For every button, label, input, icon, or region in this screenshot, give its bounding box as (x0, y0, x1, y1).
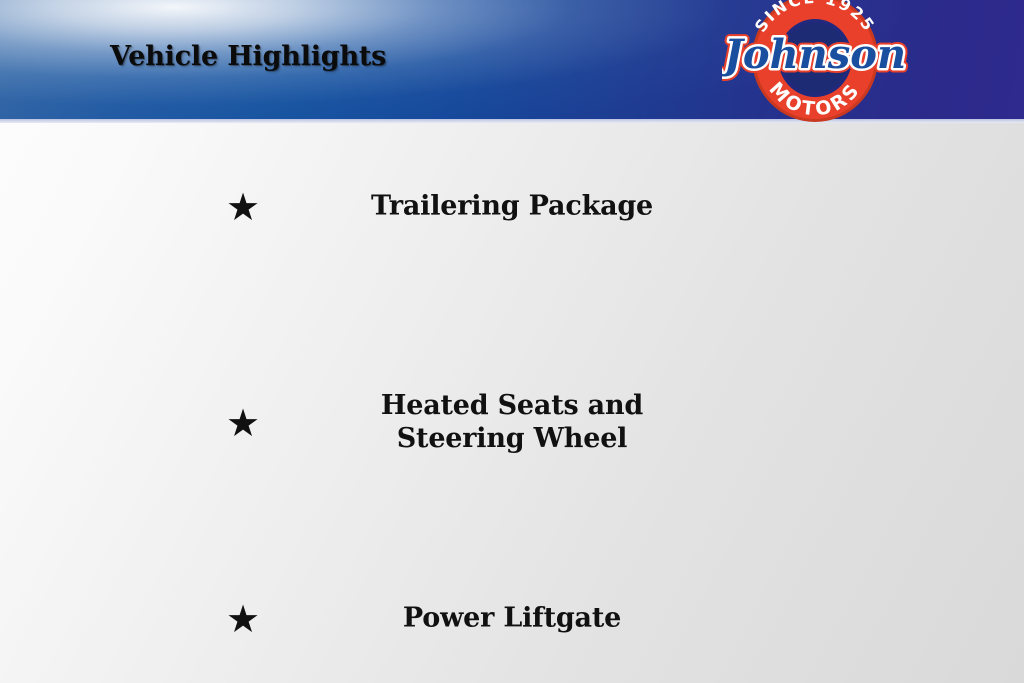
logo-wordmark-fill: Johnson (722, 31, 906, 78)
page-title: Vehicle Highlights (110, 41, 386, 72)
logo-wordmark: Johnson Johnson Johnson (722, 31, 906, 78)
highlight-label-3: Power Liftgate (324, 603, 700, 636)
star-bullet-icon: ★ (226, 404, 260, 442)
highlight-label-2: Heated Seats and Steering Wheel (324, 390, 700, 456)
star-bullet-icon: ★ (226, 188, 260, 226)
slide-canvas: Vehicle Highlights SINCE 1925 MOTORS (0, 0, 1024, 683)
johnson-motors-logo: SINCE 1925 MOTORS Johnson Johnson Johnso… (722, 0, 908, 124)
highlight-label-1: Trailering Package (324, 191, 700, 224)
vehicle-highlights-list: ★ Trailering Package ★ Heated Seats and … (0, 119, 1024, 683)
star-bullet-icon: ★ (226, 600, 260, 638)
